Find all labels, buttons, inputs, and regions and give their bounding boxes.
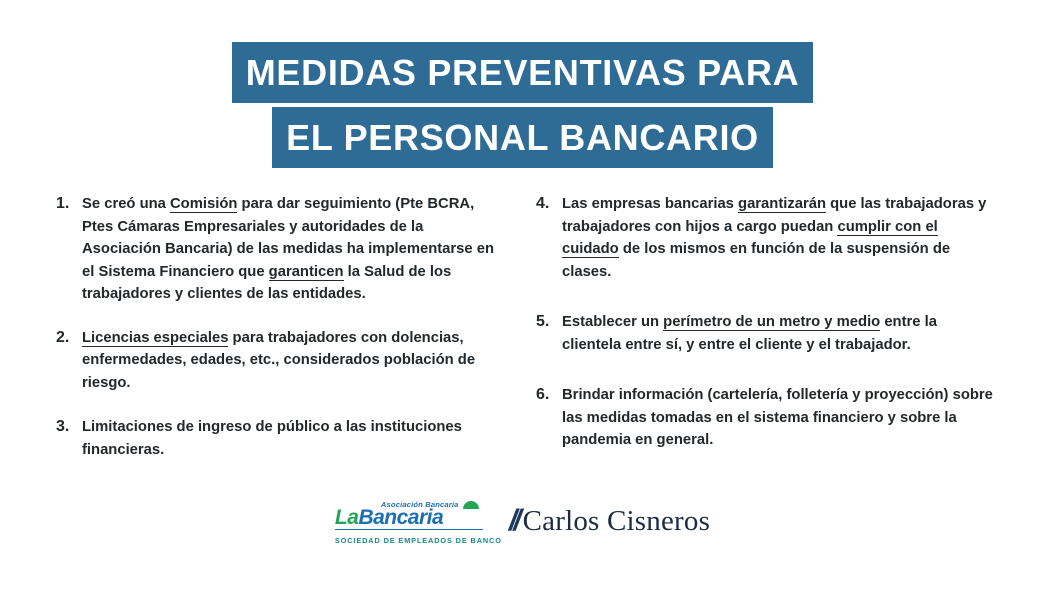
title-line-2: EL PERSONAL BANCARIO bbox=[272, 107, 773, 168]
list-item-number: 2. bbox=[56, 327, 82, 350]
la-bancaria-wordmark: LaBancaria bbox=[335, 507, 483, 528]
list-item: 4. Las empresas bancarias garantizarán q… bbox=[536, 193, 996, 283]
list-item-text: Las empresas bancarias garantizarán que … bbox=[562, 193, 996, 283]
list-item-number: 1. bbox=[56, 193, 82, 216]
list-item: 6. Brindar información (cartelería, foll… bbox=[536, 384, 996, 452]
page-title: MEDIDAS PREVENTIVAS PARA EL PERSONAL BAN… bbox=[0, 42, 1045, 168]
list-item-text: Establecer un perímetro de un metro y me… bbox=[562, 311, 996, 356]
carlos-cisneros-logo: // Carlos Cisneros bbox=[509, 504, 710, 538]
la-bancaria-word-la: La bbox=[335, 506, 359, 529]
list-item-text: Licencias especiales para trabajadores c… bbox=[82, 327, 501, 395]
list-item-number: 6. bbox=[536, 384, 562, 407]
list-item: 1. Se creó una Comisión para dar seguimi… bbox=[56, 193, 501, 306]
list-item-number: 4. bbox=[536, 193, 562, 216]
footer-logos: Asociación Bancaria LaBancaria SOCIEDAD … bbox=[0, 500, 1045, 542]
list-item-number: 5. bbox=[536, 311, 562, 334]
measures-column-right: 4. Las empresas bancarias garantizarán q… bbox=[536, 193, 996, 474]
carlos-cisneros-name: Carlos Cisneros bbox=[523, 505, 710, 538]
measures-column-left: 1. Se creó una Comisión para dar seguimi… bbox=[56, 193, 501, 483]
list-item: 2. Licencias especiales para trabajadore… bbox=[56, 327, 501, 395]
la-bancaria-logo: Asociación Bancaria LaBancaria SOCIEDAD … bbox=[335, 500, 483, 542]
double-slash-icon: // bbox=[509, 504, 518, 538]
list-item: 3. Limitaciones de ingreso de público a … bbox=[56, 416, 501, 461]
la-bancaria-subtitle-bar: SOCIEDAD DE EMPLEADOS DE BANCO bbox=[335, 529, 483, 541]
list-item-text: Se creó una Comisión para dar seguimient… bbox=[82, 193, 501, 306]
measures-list: 1. Se creó una Comisión para dar seguimi… bbox=[0, 193, 1045, 483]
la-bancaria-subtitle: SOCIEDAD DE EMPLEADOS DE BANCO bbox=[335, 536, 502, 545]
list-item-text: Brindar información (cartelería, follete… bbox=[562, 384, 996, 452]
list-item-text: Limitaciones de ingreso de público a las… bbox=[82, 416, 501, 461]
title-line-1: MEDIDAS PREVENTIVAS PARA bbox=[232, 42, 814, 103]
list-item: 5. Establecer un perímetro de un metro y… bbox=[536, 311, 996, 356]
la-bancaria-word-bancaria: Bancaria bbox=[358, 506, 443, 529]
list-item-number: 3. bbox=[56, 416, 82, 439]
